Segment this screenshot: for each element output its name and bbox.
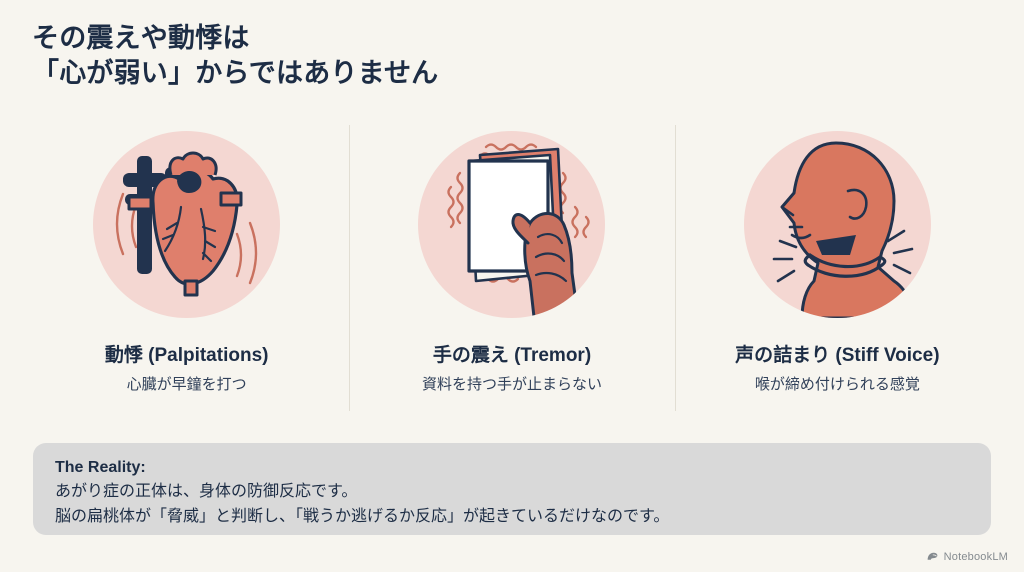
reality-line-1: あがり症の正体は、身体の防御反応です。 — [55, 479, 969, 504]
page-title: その震えや動悸は 「心が弱い」からではありません — [32, 21, 912, 91]
notebooklm-label: NotebookLM — [944, 551, 1008, 563]
symptom-card-title: 手の震え (Tremor) — [433, 344, 591, 368]
trembling-hand-with-papers-icon — [418, 131, 605, 318]
symptom-card-palpitations: 動悸 (Palpitations) 心臓が早鐘を打つ — [24, 122, 349, 414]
symptom-card-stiff-voice: 声の詰まり (Stiff Voice) 喉が締め付けられる感覚 — [675, 122, 1000, 414]
anatomical-heart-icon — [93, 131, 280, 318]
symptom-card-subtitle: 心臓が早鐘を打つ — [127, 375, 247, 395]
notebooklm-logo-icon — [926, 550, 939, 563]
title-line-2: 「心が弱い」からではありません — [32, 56, 912, 91]
notebooklm-watermark: NotebookLM — [926, 550, 1008, 563]
symptom-card-tremor: 手の震え (Tremor) 資料を持つ手が止まらない — [349, 122, 674, 414]
reality-line-2: 脳の扁桃体が「脅威」と判断し、「戦うか逃げるか反応」が起きているだけなのです。 — [55, 504, 969, 529]
slide-root: その震えや動悸は 「心が弱い」からではありません — [0, 0, 1024, 572]
symptom-card-title: 動悸 (Palpitations) — [105, 344, 269, 368]
symptom-card-title: 声の詰まり (Stiff Voice) — [735, 344, 939, 368]
symptom-card-subtitle: 喉が締め付けられる感覚 — [755, 375, 920, 395]
title-line-1: その震えや動悸は — [32, 21, 912, 56]
reality-heading: The Reality: — [55, 457, 969, 479]
constricted-throat-head-icon — [744, 131, 931, 318]
symptom-card-subtitle: 資料を持つ手が止まらない — [422, 375, 602, 395]
symptom-card-row: 動悸 (Palpitations) 心臓が早鐘を打つ — [24, 122, 1000, 414]
reality-callout: The Reality: あがり症の正体は、身体の防御反応です。 脳の扁桃体が「… — [33, 443, 991, 535]
